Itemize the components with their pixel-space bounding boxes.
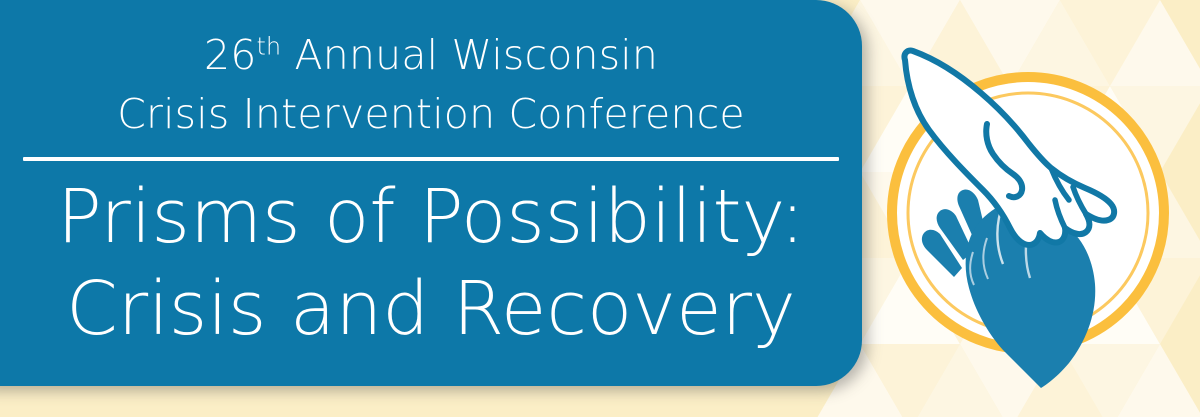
conference-banner: 26th Annual Wisconsin Crisis Interventio… [0,0,1200,417]
conference-theme-line-2: Crisis and Recovery [66,263,796,355]
edition-ordinal-suffix: th [257,32,282,60]
conference-name-line: Crisis Intervention Conference [117,85,745,144]
conference-theme-line-1: Prisms of Possibility: [57,171,805,263]
helping-hands-logo-icon [883,38,1173,388]
title-panel: 26th Annual Wisconsin Crisis Interventio… [0,0,862,386]
edition-line-suffix: Annual Wisconsin [281,31,658,79]
divider-rule [23,157,839,161]
conference-edition-line: 26th Annual Wisconsin [204,26,658,85]
edition-number: 26 [204,31,257,79]
